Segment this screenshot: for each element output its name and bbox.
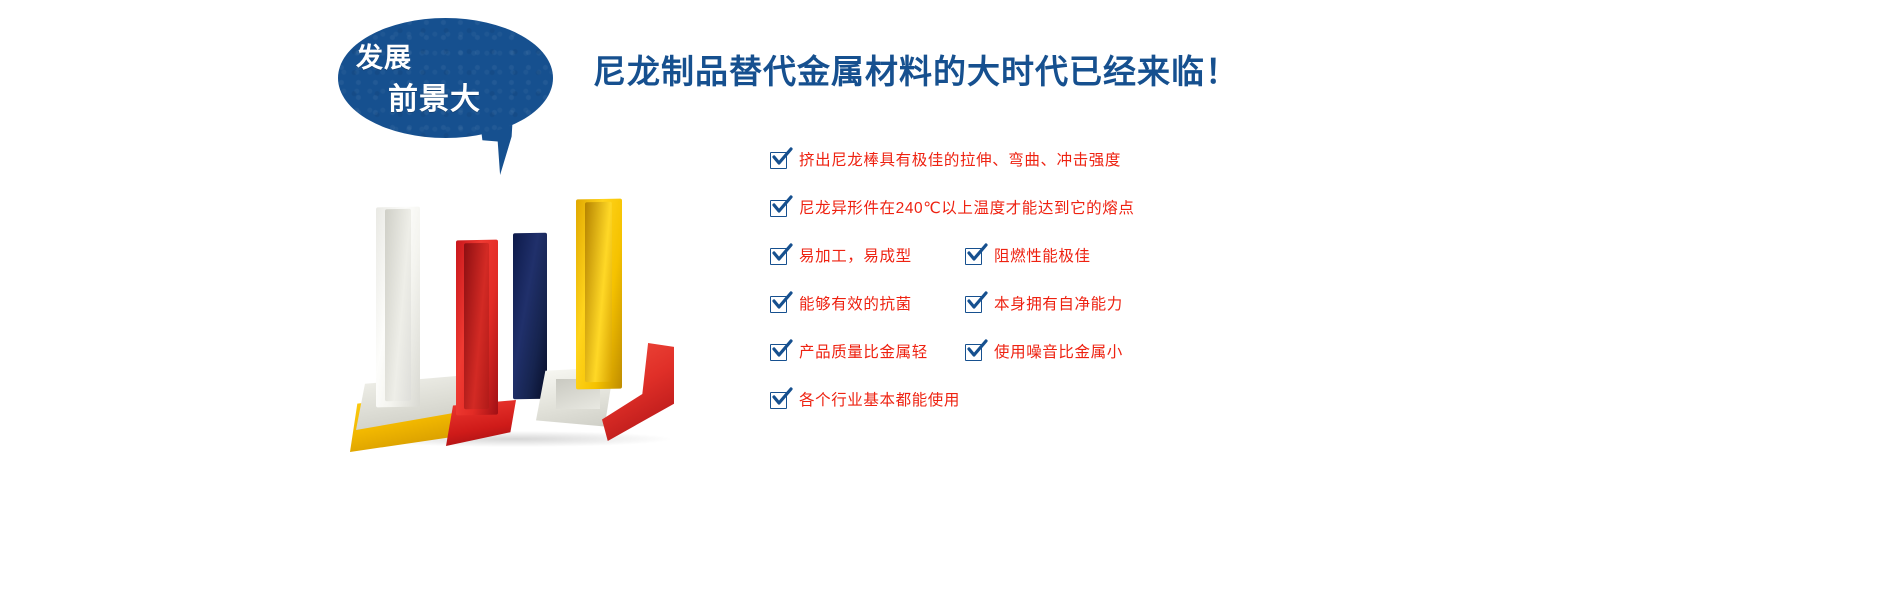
checkbox-checked-icon — [770, 344, 787, 361]
checkbox-checked-icon — [965, 248, 982, 265]
feature-item: 本身拥有自净能力 — [965, 296, 1123, 313]
checkbox-checked-icon — [965, 344, 982, 361]
feature-label: 易加工，易成型 — [799, 249, 912, 265]
feature-item: 阻燃性能极佳 — [965, 248, 1091, 265]
feature-item: 挤出尼龙棒具有极佳的拉伸、弯曲、冲击强度 — [770, 152, 1121, 169]
piece-navy-tall-bar — [513, 233, 547, 400]
feature-list: 挤出尼龙棒具有极佳的拉伸、弯曲、冲击强度 尼龙异形件在240℃以上温度才能达到它… — [770, 152, 1590, 440]
promo-banner: 发展 前景大 尼龙制品替代金属材料的大时代已经来临！ — [0, 0, 1902, 592]
speech-bubble-text: 发展 前景大 — [338, 18, 553, 138]
feature-item: 尼龙异形件在240℃以上温度才能达到它的熔点 — [770, 200, 1134, 217]
piece-red-tall-u-channel — [456, 240, 498, 416]
feature-row: 各个行业基本都能使用 — [770, 392, 1590, 440]
product-photo — [350, 185, 710, 455]
feature-item: 易加工，易成型 — [770, 248, 912, 265]
piece-red-channel-groove — [464, 243, 489, 409]
feature-label: 能够有效的抗菌 — [799, 297, 912, 313]
checkbox-checked-icon — [770, 152, 787, 169]
feature-row: 能够有效的抗菌 本身拥有自净能力 — [770, 296, 1590, 344]
speech-bubble-line-1: 发展 — [356, 45, 412, 72]
piece-white-tall-u-channel — [376, 207, 420, 408]
feature-label: 产品质量比金属轻 — [799, 345, 928, 361]
feature-item: 各个行业基本都能使用 — [770, 392, 960, 409]
feature-row: 尼龙异形件在240℃以上温度才能达到它的熔点 — [770, 200, 1590, 248]
feature-item: 产品质量比金属轻 — [770, 344, 928, 361]
checkbox-checked-icon — [770, 296, 787, 313]
piece-yellow-channel-groove — [585, 202, 612, 382]
checkbox-checked-icon — [965, 296, 982, 313]
feature-item: 使用噪音比金属小 — [965, 344, 1123, 361]
feature-label: 阻燃性能极佳 — [994, 249, 1091, 265]
feature-row: 易加工，易成型 阻燃性能极佳 — [770, 248, 1590, 296]
checkbox-checked-icon — [770, 392, 787, 409]
speech-bubble-line-2: 前景大 — [388, 85, 481, 115]
speech-bubble: 发展 前景大 — [338, 18, 553, 138]
piece-white-channel-groove — [385, 209, 411, 401]
feature-label: 各个行业基本都能使用 — [799, 393, 960, 409]
feature-row: 产品质量比金属轻 使用噪音比金属小 — [770, 344, 1590, 392]
feature-label: 本身拥有自净能力 — [994, 297, 1123, 313]
feature-label: 使用噪音比金属小 — [994, 345, 1123, 361]
headline-title: 尼龙制品替代金属材料的大时代已经来临！ — [593, 52, 1239, 92]
feature-row: 挤出尼龙棒具有极佳的拉伸、弯曲、冲击强度 — [770, 152, 1590, 200]
checkbox-checked-icon — [770, 248, 787, 265]
feature-item: 能够有效的抗菌 — [770, 296, 912, 313]
feature-label: 尼龙异形件在240℃以上温度才能达到它的熔点 — [799, 201, 1134, 217]
feature-label: 挤出尼龙棒具有极佳的拉伸、弯曲、冲击强度 — [799, 153, 1121, 169]
piece-yellow-tall-u-channel — [576, 199, 622, 390]
checkbox-checked-icon — [770, 200, 787, 217]
